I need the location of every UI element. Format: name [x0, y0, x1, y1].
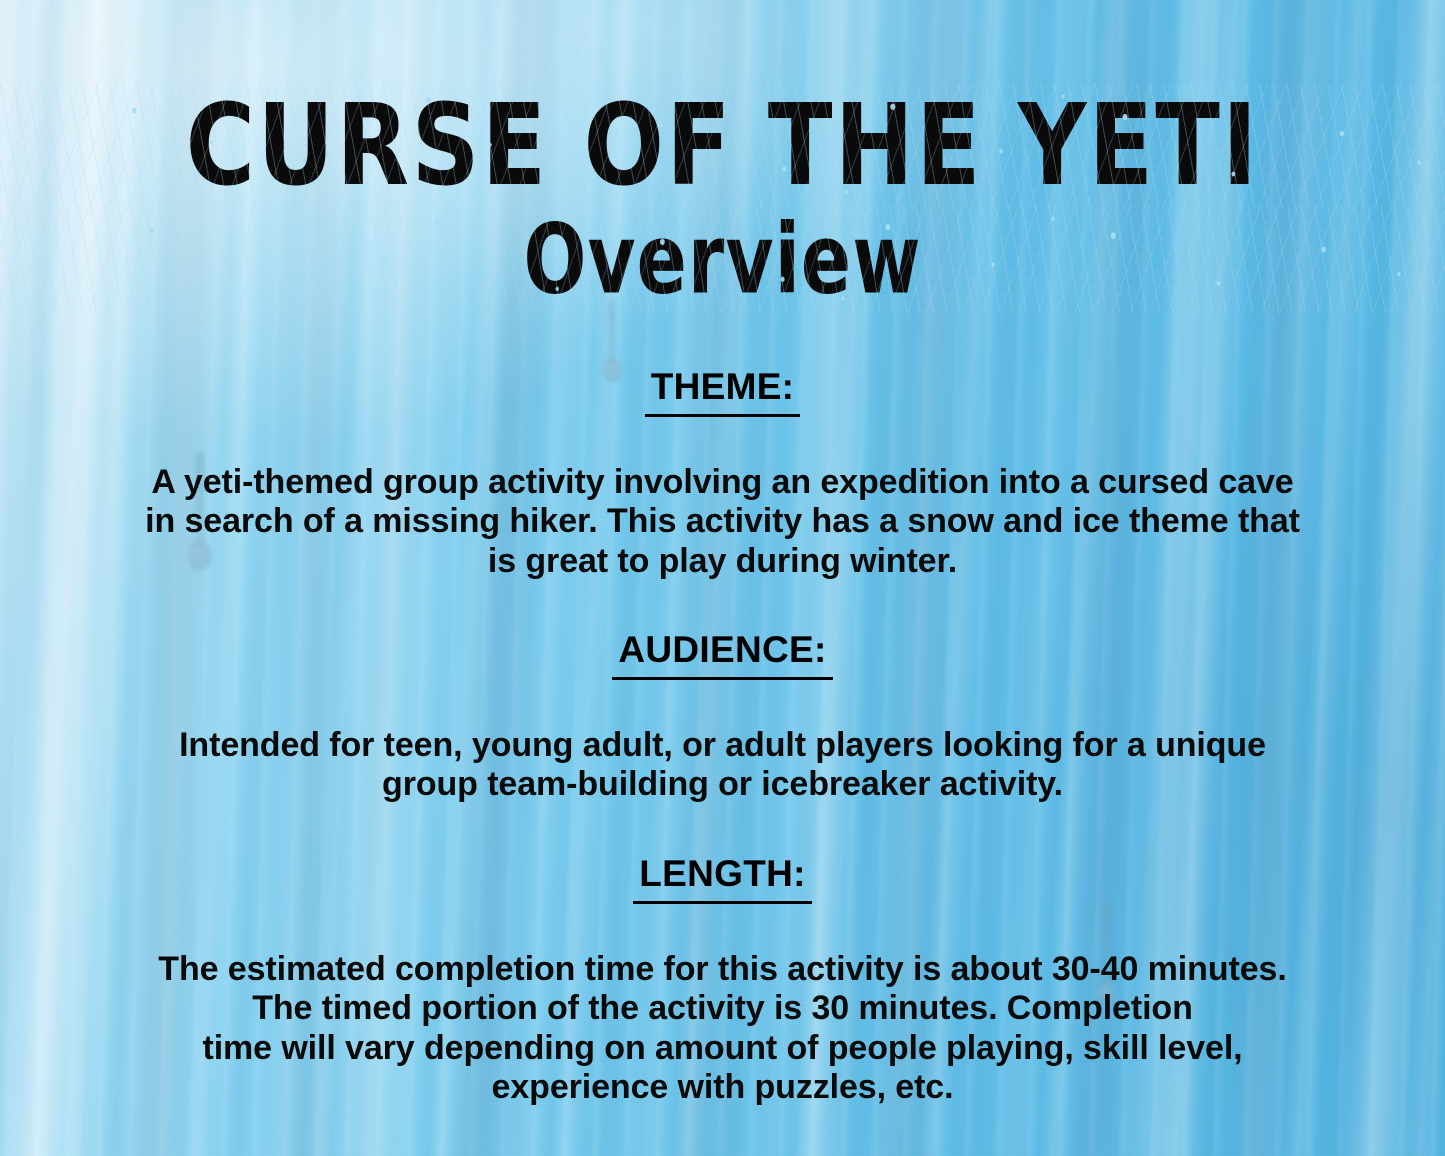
body-line: The estimated completion time for this a… [68, 950, 1378, 989]
slide-title-main: CURSE OF THE YETI [0, 90, 1445, 202]
section-heading-theme: THEME: [645, 368, 801, 417]
section-heading-length: LENGTH: [633, 855, 812, 904]
section-audience: AUDIENCE: Intended for teen, young adult… [0, 631, 1445, 805]
section-theme: THEME: A yeti-themed group activity invo… [0, 368, 1445, 581]
body-line: is great to play during winter. [68, 542, 1378, 581]
sections-container: THEME: A yeti-themed group activity invo… [0, 368, 1445, 1107]
section-body-length: The estimated completion time for this a… [68, 950, 1378, 1108]
body-line: in search of a missing hiker. This activ… [68, 502, 1378, 541]
body-line: The timed portion of the activity is 30 … [68, 989, 1378, 1028]
section-body-theme: A yeti-themed group activity involving a… [68, 463, 1378, 581]
body-line: group team-building or icebreaker activi… [68, 765, 1378, 804]
section-heading-audience: AUDIENCE: [612, 631, 832, 680]
slide-canvas: CURSE OF THE YETI Overview THEME: A yeti… [0, 0, 1445, 1156]
section-body-audience: Intended for teen, young adult, or adult… [68, 726, 1378, 805]
slide-content: CURSE OF THE YETI Overview THEME: A yeti… [0, 0, 1445, 1156]
body-line: time will vary depending on amount of pe… [68, 1029, 1378, 1068]
section-length: LENGTH: The estimated completion time fo… [0, 855, 1445, 1108]
body-line: Intended for teen, young adult, or adult… [68, 726, 1378, 765]
title-block: CURSE OF THE YETI Overview [0, 90, 1445, 286]
slide-title-sub: Overview [0, 212, 1445, 308]
body-line: experience with puzzles, etc. [68, 1068, 1378, 1107]
body-line: A yeti-themed group activity involving a… [68, 463, 1378, 502]
